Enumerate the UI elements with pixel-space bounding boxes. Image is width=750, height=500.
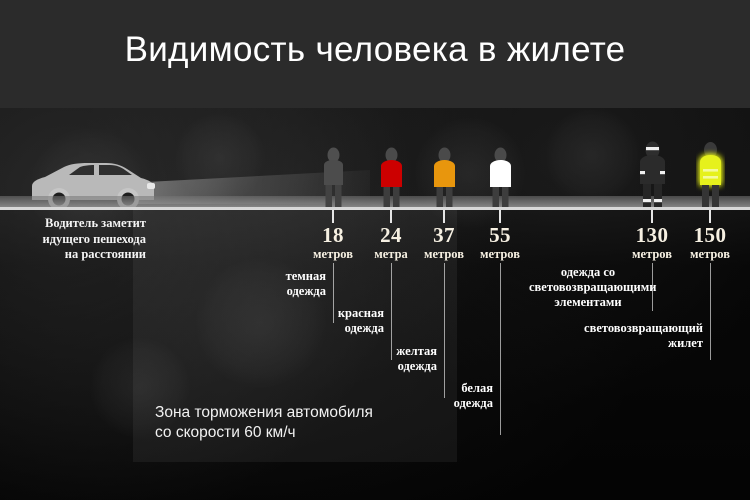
callout-reflective-vest: световозвращающий жилет [562, 321, 703, 351]
tick-mark [651, 210, 653, 223]
distance-unit: метров [667, 247, 750, 261]
tick-mark [499, 210, 501, 223]
bokeh-light [175, 113, 265, 203]
night-scene: Зона торможения автомобиля со скорости 6… [0, 108, 750, 500]
page-title: Видимость человека в жилете [0, 30, 750, 70]
distance-value: 150 [667, 224, 750, 247]
bokeh-light [545, 108, 640, 203]
tick-mark [709, 210, 711, 223]
callout-dark-clothing: темная одежда [213, 269, 326, 299]
tick-mark [390, 210, 392, 223]
pedestrian-yellow-icon [431, 147, 458, 208]
distance-value: 55 [457, 224, 543, 247]
pedestrian-red-icon [378, 147, 405, 208]
infographic-canvas: Видимость человека в жилете Зона торможе… [0, 0, 750, 500]
pedestrian-white-icon [487, 147, 514, 208]
pedestrian-reflective-vest-icon [696, 140, 725, 208]
tick-mark [443, 210, 445, 223]
callout-reflective-elements: одежда со световозвращающими элементами [529, 265, 647, 310]
distance-unit: метров [457, 247, 543, 261]
header-band: Видимость человека в жилете [0, 0, 750, 108]
leader-line [500, 263, 501, 435]
leader-line [710, 263, 711, 360]
distance-label-55: 55 метров [457, 224, 543, 261]
driver-note: Водитель заметит идущего пешехода на рас… [0, 216, 146, 263]
leader-line [444, 263, 445, 398]
pedestrian-reflective-strips-icon [637, 140, 668, 208]
tick-mark [332, 210, 334, 223]
callout-yellow-clothing: желтая одежда [324, 344, 437, 374]
callout-white-clothing: белая одежда [380, 381, 493, 411]
distance-label-150: 150 метров [667, 224, 750, 261]
pedestrian-dark-icon [320, 147, 347, 208]
callout-red-clothing: красная одежда [271, 306, 384, 336]
